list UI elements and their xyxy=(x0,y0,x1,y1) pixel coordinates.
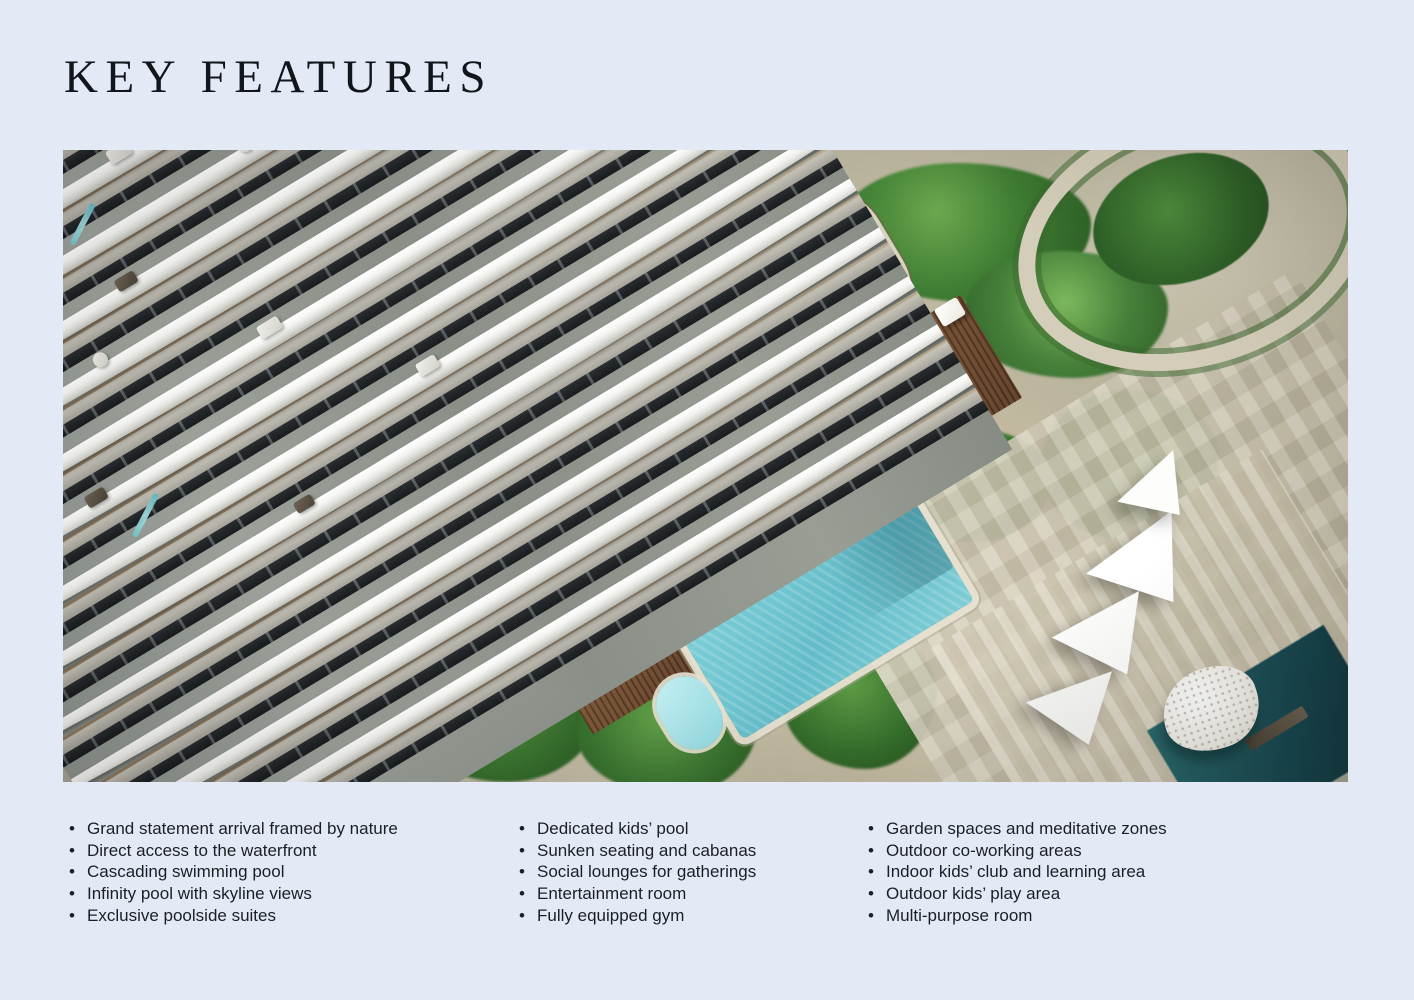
list-item: •Multi-purpose room xyxy=(862,905,1348,927)
features-column-1: •Grand statement arrival framed by natur… xyxy=(63,818,513,927)
features-column-2: •Dedicated kids’ pool •Sunken seating an… xyxy=(513,818,862,927)
page-title: KEY FEATURES xyxy=(64,54,493,101)
feature-label: Social lounges for gatherings xyxy=(537,862,756,881)
palm-tree xyxy=(860,573,904,617)
list-item: •Cascading swimming pool xyxy=(63,861,513,883)
feature-label: Infinity pool with skyline views xyxy=(87,884,312,903)
list-item: •Sunken seating and cabanas xyxy=(513,840,862,862)
bullet-icon: • xyxy=(67,905,77,927)
list-item: •Grand statement arrival framed by natur… xyxy=(63,818,513,840)
feature-label: Fully equipped gym xyxy=(537,906,684,925)
feature-label: Direct access to the waterfront xyxy=(87,841,317,860)
feature-list-1: •Grand statement arrival framed by natur… xyxy=(63,818,513,927)
list-item: •Social lounges for gatherings xyxy=(513,861,862,883)
bullet-icon: • xyxy=(67,840,77,862)
list-item: •Fully equipped gym xyxy=(513,905,862,927)
palm-tree xyxy=(963,681,997,715)
feature-label: Multi-purpose room xyxy=(886,906,1032,925)
palm-tree xyxy=(1020,441,1066,487)
bullet-icon: • xyxy=(866,905,876,927)
list-item: •Entertainment room xyxy=(513,883,862,905)
bullet-icon: • xyxy=(866,840,876,862)
feature-list-2: •Dedicated kids’ pool •Sunken seating an… xyxy=(513,818,862,927)
hero-canvas xyxy=(63,150,1348,782)
feature-label: Outdoor kids’ play area xyxy=(886,884,1060,903)
feature-label: Garden spaces and meditative zones xyxy=(886,819,1167,838)
hero-render-image xyxy=(63,150,1348,782)
bullet-icon: • xyxy=(517,840,527,862)
bullet-icon: • xyxy=(517,818,527,840)
features-columns: •Grand statement arrival framed by natur… xyxy=(63,818,1348,927)
feature-label: Cascading swimming pool xyxy=(87,862,284,881)
list-item: •Outdoor co-working areas xyxy=(862,840,1348,862)
list-item: •Exclusive poolside suites xyxy=(63,905,513,927)
list-item: •Indoor kids’ club and learning area xyxy=(862,861,1348,883)
bullet-icon: • xyxy=(866,883,876,905)
feature-list-3: •Garden spaces and meditative zones •Out… xyxy=(862,818,1348,927)
bullet-icon: • xyxy=(517,905,527,927)
bullet-icon: • xyxy=(866,818,876,840)
list-item: •Infinity pool with skyline views xyxy=(63,883,513,905)
feature-label: Grand statement arrival framed by nature xyxy=(87,819,398,838)
slide-root: KEY FEATURES xyxy=(0,0,1414,1000)
feature-label: Sunken seating and cabanas xyxy=(537,841,756,860)
palm-tree xyxy=(937,517,979,559)
shade-sail xyxy=(1117,441,1192,515)
feature-label: Entertainment room xyxy=(537,884,686,903)
palm-tree xyxy=(1194,340,1234,380)
feature-label: Dedicated kids’ pool xyxy=(537,819,689,838)
bullet-icon: • xyxy=(67,818,77,840)
bullet-icon: • xyxy=(67,883,77,905)
list-item: •Garden spaces and meditative zones xyxy=(862,818,1348,840)
list-item: •Outdoor kids’ play area xyxy=(862,883,1348,905)
bullet-icon: • xyxy=(517,861,527,883)
list-item: •Direct access to the waterfront xyxy=(63,840,513,862)
feature-label: Outdoor co-working areas xyxy=(886,841,1082,860)
list-item: •Dedicated kids’ pool xyxy=(513,818,862,840)
bullet-icon: • xyxy=(866,861,876,883)
feature-label: Indoor kids’ club and learning area xyxy=(886,862,1145,881)
features-column-3: •Garden spaces and meditative zones •Out… xyxy=(862,818,1348,927)
bullet-icon: • xyxy=(517,883,527,905)
palm-tree xyxy=(808,694,844,730)
bullet-icon: • xyxy=(67,861,77,883)
palm-tree xyxy=(1078,327,1116,365)
feature-label: Exclusive poolside suites xyxy=(87,906,276,925)
